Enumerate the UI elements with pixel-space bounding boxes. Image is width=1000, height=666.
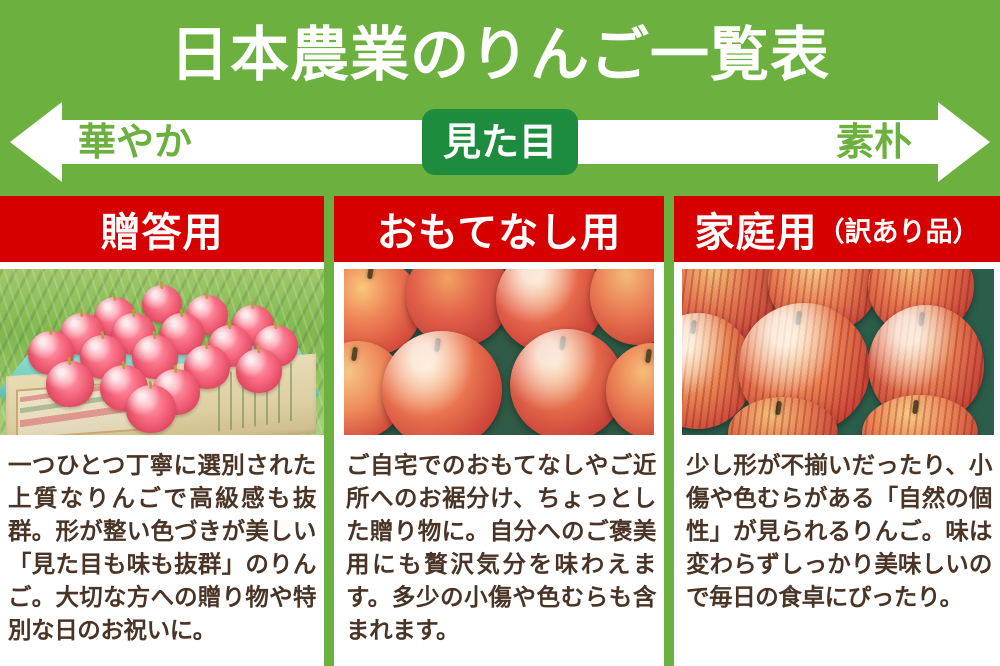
column-heading-gift: 贈答用 xyxy=(0,196,324,262)
apple-highlight xyxy=(382,331,502,435)
column-heading-household: 家庭用 （訳あり品） xyxy=(674,196,1000,262)
header-band: 日本農業のりんご一覧表 華やか 見た目 素朴 xyxy=(0,0,1000,196)
arrow-label-right: 素朴 xyxy=(836,108,912,176)
spectrum-arrow-bar: 華やか 見た目 素朴 xyxy=(0,102,1000,182)
column-photo-household xyxy=(682,269,994,435)
arrow-right-head-icon xyxy=(938,102,990,182)
comparison-columns: 贈答用 xyxy=(0,196,1000,666)
apple-highlight xyxy=(510,329,624,435)
apple xyxy=(236,349,282,393)
apple xyxy=(126,385,176,433)
column-body-household: 少し形が不揃いだったり、小傷や色むらがある「自然の個性」が見られるりんご。味は変… xyxy=(674,435,1000,666)
infographic-page: 日本農業のりんご一覧表 華やか 見た目 素朴 贈答用 xyxy=(0,0,1000,666)
apple xyxy=(46,361,94,407)
column-heading-sub: （訳あり品） xyxy=(818,210,980,249)
apple-highlight xyxy=(738,303,870,433)
column-body-gift: 一つひとつ丁寧に選別された上質なりんごで高級感も抜群。形が整い色づきが美しい「見… xyxy=(0,435,324,666)
column-household: 家庭用 （訳あり品） 少し形が不揃いだったり、小傷や xyxy=(674,196,1000,666)
column-heading-main: 家庭用 xyxy=(695,200,818,258)
column-heading-main: 贈答用 xyxy=(101,200,224,258)
column-photo-hospitality xyxy=(344,269,654,435)
column-hospitality: おもてなし用 ご自宅でのおもてなしやご近所へのお裾 xyxy=(334,196,664,666)
page-title: 日本農業のりんご一覧表 xyxy=(0,14,1000,96)
column-heading-main: おもてなし用 xyxy=(377,200,621,258)
apple-highlight xyxy=(868,305,984,425)
arrow-left-head-icon xyxy=(10,102,62,182)
spectrum-badge: 見た目 xyxy=(422,109,578,175)
arrow-label-left: 華やか xyxy=(78,108,192,176)
column-heading-hospitality: おもてなし用 xyxy=(334,196,664,262)
column-photo-gift xyxy=(0,269,324,435)
column-body-hospitality: ご自宅でのおもてなしやご近所へのお裾分け、ちょっとした贈り物に。自分へのご褒美用… xyxy=(334,435,664,666)
column-gift: 贈答用 xyxy=(0,196,324,666)
